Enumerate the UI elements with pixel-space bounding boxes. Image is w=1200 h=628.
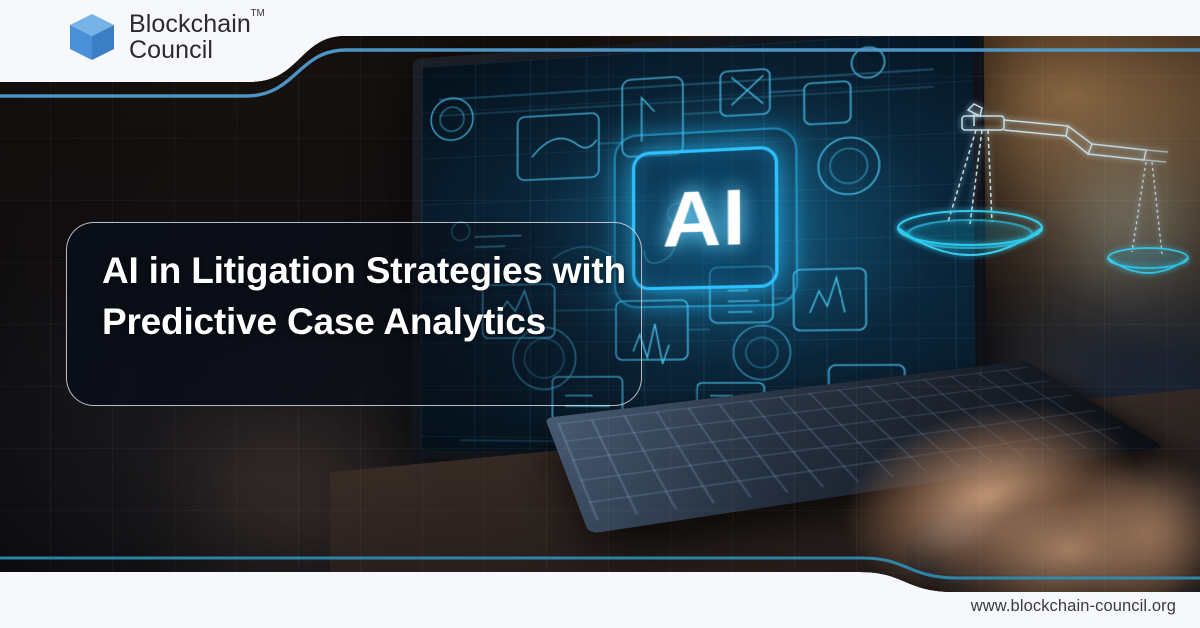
brand-wordmark: Blockchain Council TM [129, 11, 251, 63]
page-title: AI in Litigation Strategies with Predict… [102, 245, 632, 347]
website-url[interactable]: www.blockchain-council.org [971, 597, 1176, 616]
blockchain-cube-icon [68, 12, 116, 62]
trademark-symbol: TM [250, 8, 264, 19]
hero-title-card: AI in Litigation Strategies with Predict… [66, 222, 642, 406]
brand-logo[interactable]: Blockchain Council TM [68, 11, 251, 63]
banner-root: AI [0, 0, 1200, 628]
brand-line-1: Blockchain [129, 11, 251, 37]
brand-line-2: Council [129, 37, 251, 63]
